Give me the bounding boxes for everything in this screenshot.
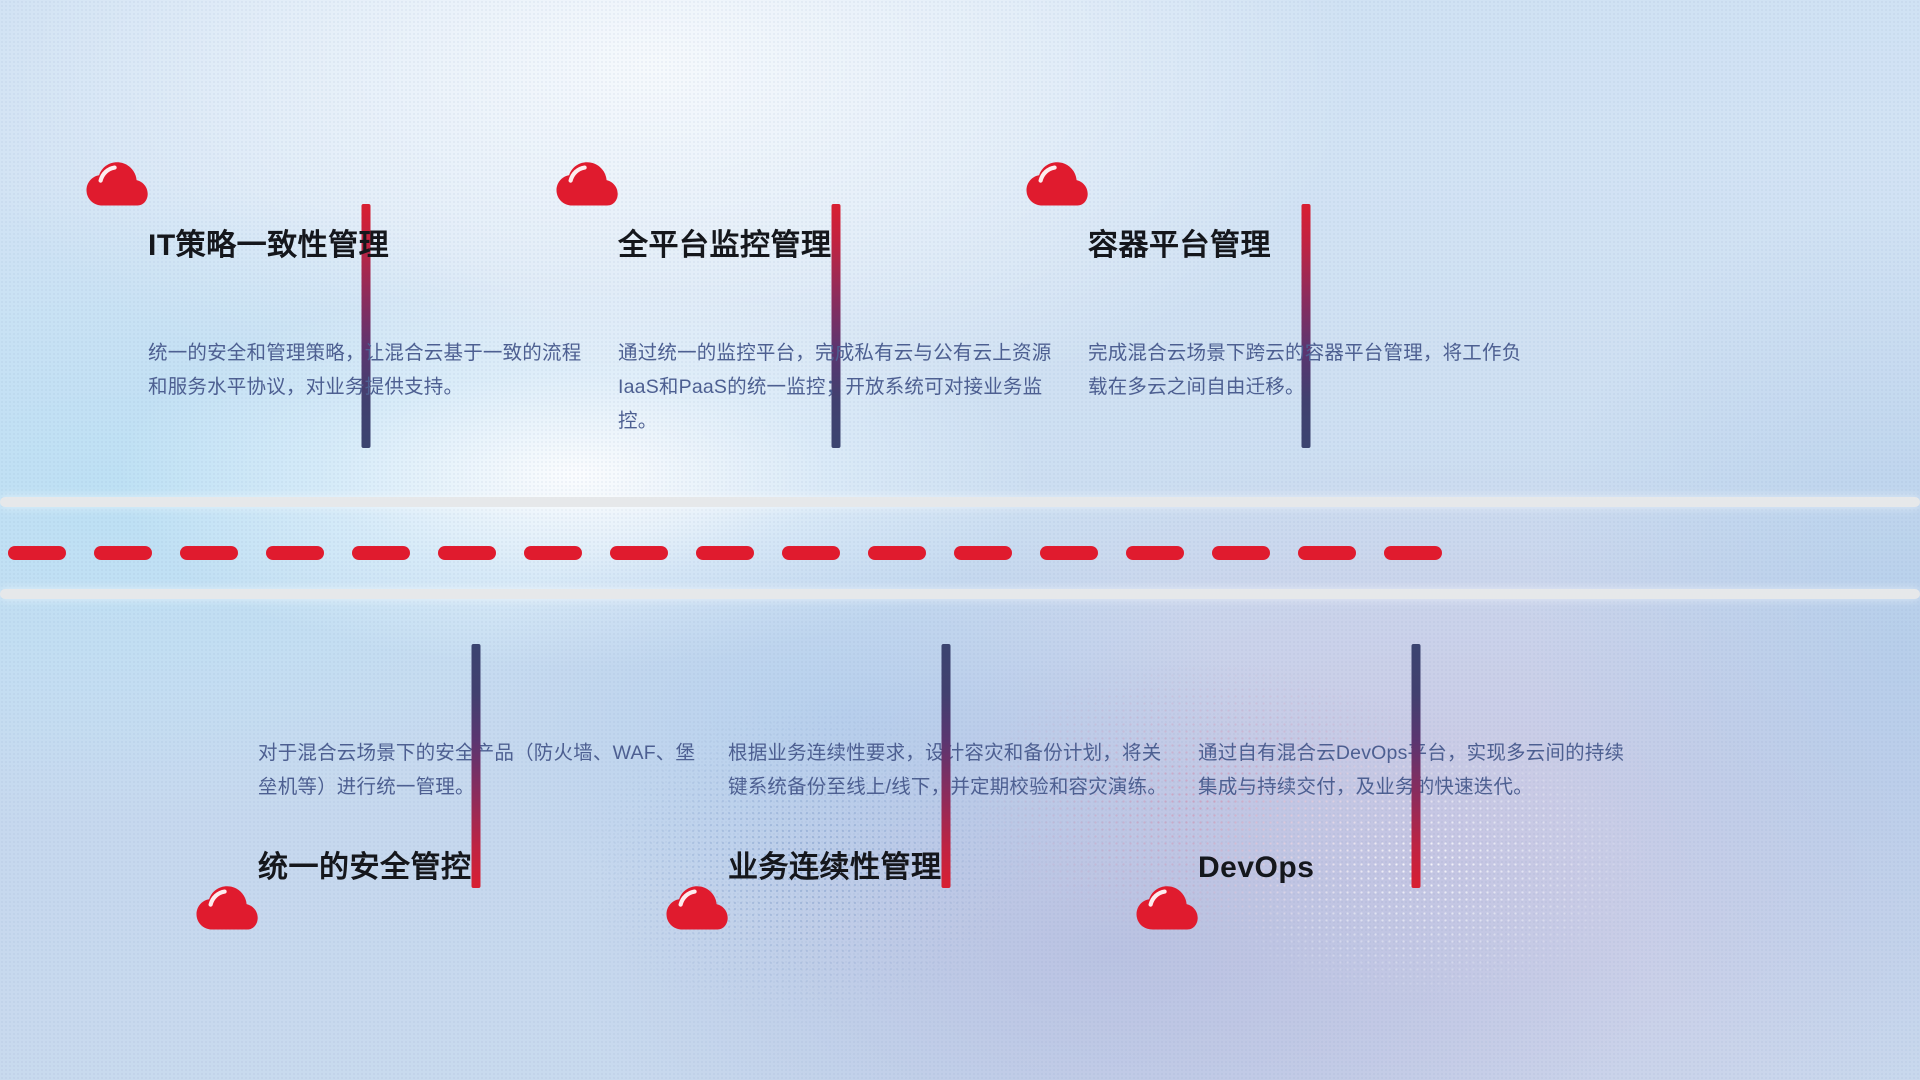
road-dash bbox=[352, 546, 410, 560]
cloud-icon bbox=[86, 162, 148, 206]
pin-stem bbox=[472, 644, 481, 888]
road-dash bbox=[610, 546, 668, 560]
road-dash bbox=[438, 546, 496, 560]
road-dash bbox=[8, 546, 66, 560]
road-dash bbox=[1384, 546, 1442, 560]
pin-stem bbox=[942, 644, 951, 888]
card-heading: 容器平台管理 bbox=[1088, 228, 1586, 264]
road-dash bbox=[94, 546, 152, 560]
cloud-pin-container-platform bbox=[1026, 162, 1586, 206]
cloud-icon bbox=[1136, 886, 1198, 930]
road-dash bbox=[524, 546, 582, 560]
road-dash bbox=[180, 546, 238, 560]
card-heading: DevOps bbox=[1198, 850, 1696, 886]
road-dash bbox=[1126, 546, 1184, 560]
road-dash bbox=[266, 546, 324, 560]
pin-column-devops: 通过自有混合云DevOps平台，实现多云间的持续集成与持续交付，及业务的快速迭代… bbox=[1136, 628, 1696, 930]
pin-column-container-platform: 容器平台管理 完成混合云场景下跨云的容器平台管理，将工作负载在多云之间自由迁移。 bbox=[1026, 162, 1586, 404]
road-edge-top bbox=[0, 497, 1920, 507]
road-dash bbox=[696, 546, 754, 560]
cloud-icon bbox=[556, 162, 618, 206]
cloud-pin-devops bbox=[1136, 886, 1696, 930]
card-body: 通过统一的监控平台，完成私有云与公有云上资源IaaS和PaaS的统一监控；开放系… bbox=[618, 336, 1058, 438]
road-edge-bottom bbox=[0, 589, 1920, 599]
road-dash bbox=[1212, 546, 1270, 560]
infographic-canvas: IT策略一致性管理 统一的安全和管理策略，让混合云基于一致的流程和服务水平协议，… bbox=[0, 0, 1920, 1080]
road-dash bbox=[1040, 546, 1098, 560]
road-dash bbox=[954, 546, 1012, 560]
cloud-icon bbox=[1026, 162, 1088, 206]
card-body: 统一的安全和管理策略，让混合云基于一致的流程和服务水平协议，对业务提供支持。 bbox=[148, 336, 588, 404]
card-container-platform: 容器平台管理 完成混合云场景下跨云的容器平台管理，将工作负载在多云之间自由迁移。 bbox=[1026, 206, 1586, 404]
road-dash bbox=[868, 546, 926, 560]
pin-stem bbox=[1412, 644, 1421, 888]
road-dashed-centerline bbox=[0, 546, 1920, 560]
road-dash bbox=[1298, 546, 1356, 560]
road-dash bbox=[782, 546, 840, 560]
cloud-icon bbox=[666, 886, 728, 930]
card-body: 完成混合云场景下跨云的容器平台管理，将工作负载在多云之间自由迁移。 bbox=[1088, 336, 1528, 404]
cloud-icon bbox=[196, 886, 258, 930]
